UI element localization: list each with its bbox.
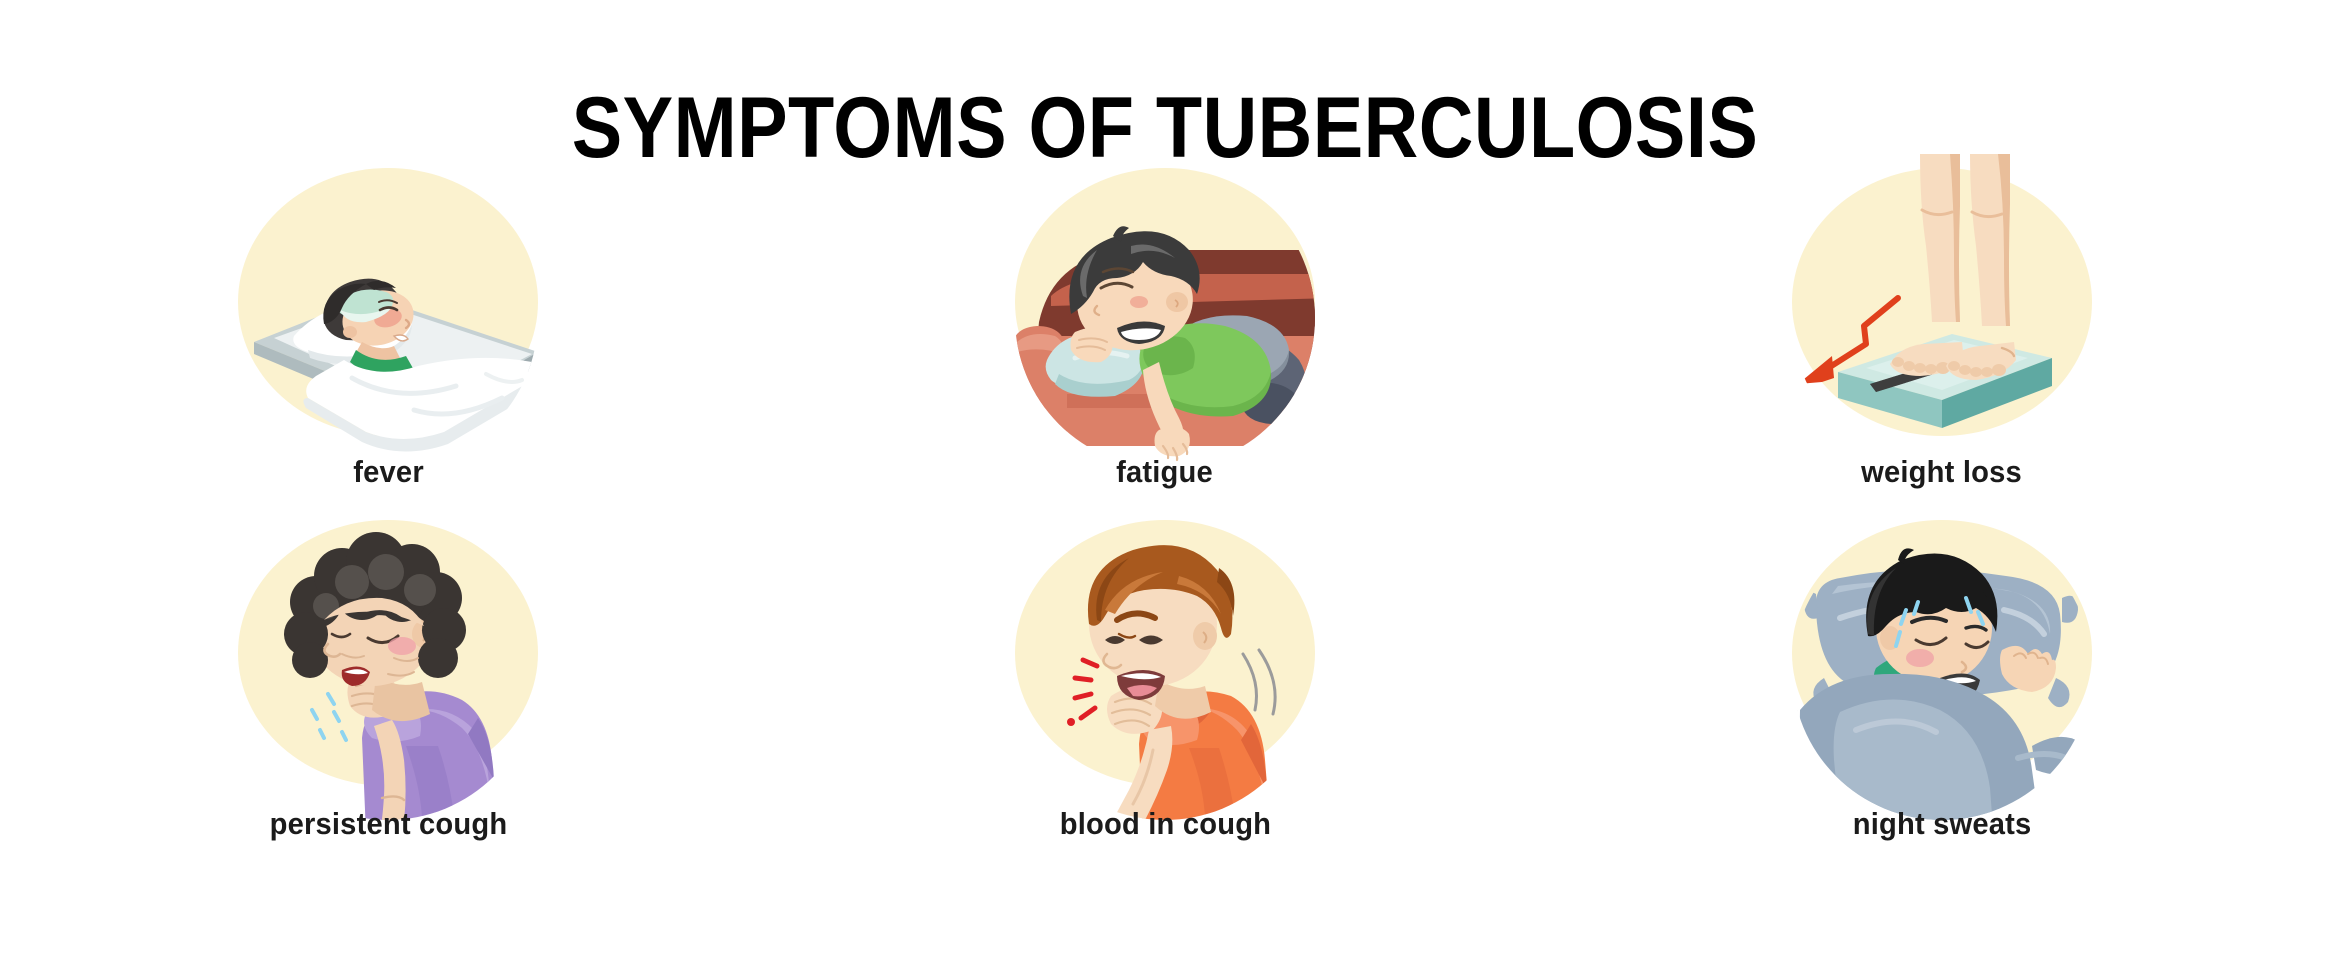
feet-on-bathroom-scale-with-down-arrow-icon: [1770, 146, 2114, 490]
boy-sweating-in-bed-icon: [1770, 498, 2114, 842]
symptoms-grid: fever: [0, 168, 2330, 842]
symptom-icon-fever: [238, 168, 538, 436]
symptom-card-blood-in-cough: blood in cough: [777, 520, 1554, 842]
symptom-icon-blood-in-cough: [1015, 520, 1315, 786]
symptom-card-fever: fever: [0, 168, 777, 490]
symptom-icon-weight-loss: [1792, 168, 2092, 436]
symptom-icon-fatigue: [1015, 168, 1315, 436]
symptom-card-night-sweats: night sweats: [1553, 520, 2330, 842]
infographic-poster: SYMPTOMS OF TUBERCULOSIS: [0, 0, 2330, 980]
symptom-label-night-sweats: night sweats: [1852, 806, 2031, 842]
symptom-icon-persistent-cough: [238, 520, 538, 786]
symptom-label-fever: fever: [353, 454, 424, 490]
symptom-label-persistent-cough: persistent cough: [269, 806, 507, 842]
symptom-icon-night-sweats: [1792, 520, 2092, 786]
boy-sleeping-on-sofa-icon: [993, 146, 1337, 490]
elderly-woman-coughing-icon: [216, 498, 560, 842]
symptom-card-weight-loss: weight loss: [1553, 168, 2330, 490]
symptom-card-persistent-cough: persistent cough: [0, 520, 777, 842]
symptom-label-blood-in-cough: blood in cough: [1059, 806, 1270, 842]
symptom-label-weight-loss: weight loss: [1861, 454, 2022, 490]
person-in-bed-with-cold-compress-icon: [216, 146, 560, 490]
boy-coughing-blood-icon: [993, 498, 1337, 842]
symptom-label-fatigue: fatigue: [1117, 454, 1214, 490]
symptom-card-fatigue: fatigue: [777, 168, 1554, 490]
